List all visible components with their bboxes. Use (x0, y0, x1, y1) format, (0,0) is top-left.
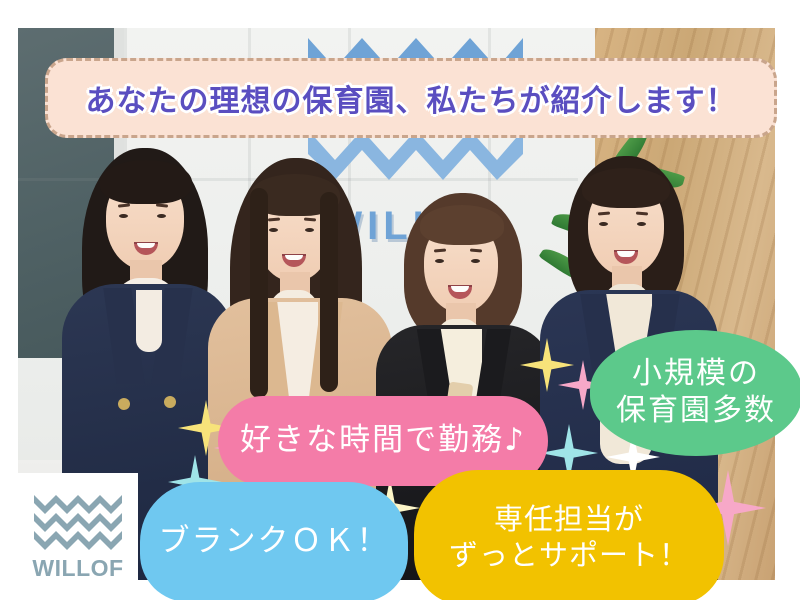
bubble-pink-line-1: 好きな時間で勤務♪ (240, 422, 526, 460)
headline-text: あなたの理想の保育園、私たちが紹介します！ (86, 76, 737, 120)
bubble-green-line-2: 保育園多数 (616, 393, 776, 430)
bubble-blue-line-1: ブランクＯＫ！ (159, 523, 390, 561)
bubble-yellow-line-2: ずっとサポート！ (449, 538, 689, 573)
willof-wordmark: WILLOF (32, 555, 123, 582)
headline-banner: あなたの理想の保育園、私たちが紹介します！ (45, 58, 777, 138)
willof-zigzag-icon (34, 492, 122, 550)
bubble-small-nursery: 小規模の 保育園多数 (590, 330, 800, 456)
bubble-green-line-1: 小規模の (632, 356, 760, 393)
bubble-yellow-line-1: 専任担当が (494, 502, 644, 537)
willof-logo-card: WILLOF (18, 473, 138, 600)
bubble-dedicated-support: 専任担当が ずっとサポート！ (414, 470, 724, 600)
bubble-blank-ok: ブランクＯＫ！ (140, 482, 408, 600)
advertisement-canvas: WILLOF (0, 0, 800, 600)
